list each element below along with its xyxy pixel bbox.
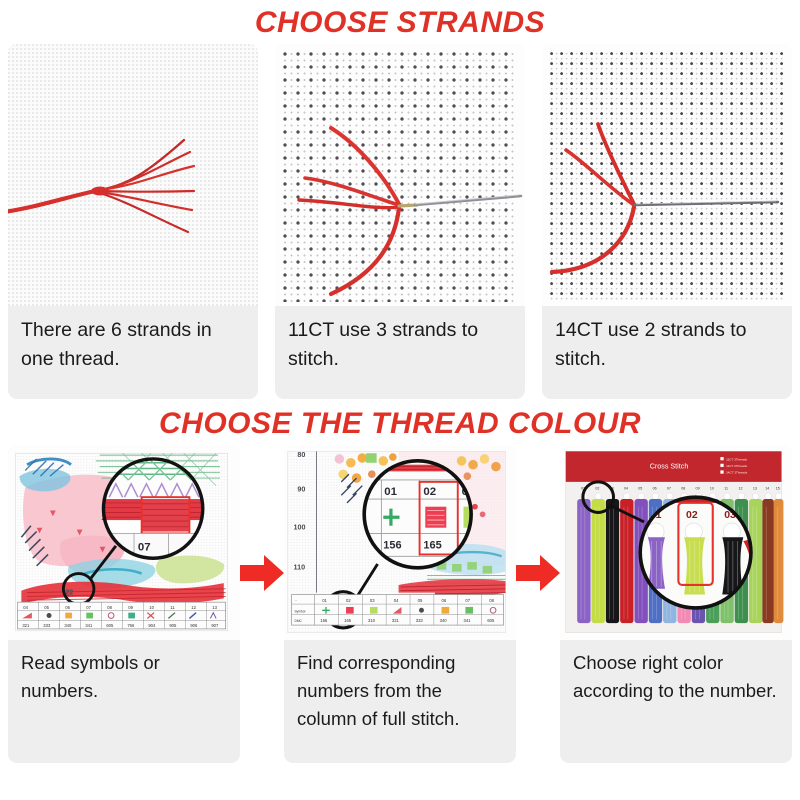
legend-number: 12 xyxy=(191,605,196,610)
photo-printed-pattern-with-magnifier: 24 22 xyxy=(8,445,240,640)
header-legend-entry: 11CT 2Threads xyxy=(726,464,747,468)
legend-code: 321 xyxy=(22,623,30,628)
legend-number: 07 xyxy=(86,605,91,610)
legend-number: 08 xyxy=(489,598,494,603)
legend-code: 905 xyxy=(169,623,177,628)
legend-number: 08 xyxy=(107,605,112,610)
caption-11ct-three-strands: 11CT use 3 strands to stitch. xyxy=(275,306,525,399)
legend-code: 165 xyxy=(344,618,352,623)
svg-text:06: 06 xyxy=(653,487,657,491)
magnified-code: 165 xyxy=(423,540,441,552)
dmc-legend-table: ·· Symbol DMC 01 02 03 04 05 06 07 08 xyxy=(292,595,504,626)
legend-code: 605 xyxy=(487,618,495,623)
legend-number: 10 xyxy=(149,605,154,610)
legend-number: 04 xyxy=(23,605,28,610)
chart-marker-22: 22 xyxy=(65,589,73,597)
magnified-number: 02 xyxy=(423,486,436,498)
card-find-numbers: 80 90 100 110 xyxy=(284,445,516,763)
legend-row-label: DMC xyxy=(295,619,303,623)
photo-chart-with-magnified-legend: 80 90 100 110 xyxy=(284,445,516,640)
right-arrow-icon-2 xyxy=(516,553,560,598)
needle-and-two-strands-illustration xyxy=(542,44,792,306)
photo-six-strands-on-plain-fabric xyxy=(8,44,258,306)
svg-text:11: 11 xyxy=(724,487,728,491)
caption-find-numbers: Find corresponding numbers from the colu… xyxy=(284,640,516,763)
axis-label: 110 xyxy=(294,564,306,572)
header-legend-entry: 14CT 2Threads xyxy=(726,471,748,475)
card-six-strands: There are 6 strands in one thread. xyxy=(8,44,258,399)
thread-colour-card-row: 24 22 xyxy=(0,445,800,763)
svg-text:02: 02 xyxy=(595,487,599,491)
magnified-bobbin-number: 02 xyxy=(686,509,698,521)
magnified-number: 01 xyxy=(384,486,397,498)
legend-number: 11 xyxy=(170,605,175,610)
legend-number: 01 xyxy=(322,598,327,603)
photo-needle-on-11ct-aida xyxy=(275,44,525,306)
svg-text:15: 15 xyxy=(776,487,780,491)
axis-label: 100 xyxy=(294,524,306,532)
legend-number: 03 xyxy=(370,598,375,603)
legend-code: 907 xyxy=(211,623,219,628)
legend-code: 333 xyxy=(43,623,51,628)
pattern-chart-illustration: 24 22 xyxy=(8,445,240,640)
legend-number: 06 xyxy=(442,598,447,603)
svg-text:13: 13 xyxy=(753,487,757,491)
thread-card-illustration: Cross Stitch 11CT 3Threads 11CT 2Threads… xyxy=(560,445,792,640)
caption-14ct-two-strands: 14CT use 2 strands to stitch. xyxy=(542,306,792,399)
card-choose-color: Cross Stitch 11CT 3Threads 11CT 2Threads… xyxy=(560,445,792,763)
legend-number: 09 xyxy=(128,605,133,610)
strands-card-row: There are 6 strands in one thread. 11CT … xyxy=(0,44,800,399)
magnified-code: 156 xyxy=(383,540,401,552)
svg-text:05: 05 xyxy=(638,487,642,491)
legend-number: 04 xyxy=(394,598,399,603)
legend-code: 340 xyxy=(440,618,448,623)
svg-text:14: 14 xyxy=(765,487,769,491)
legend-code: 156 xyxy=(320,618,328,623)
legend-number: 05 xyxy=(418,598,423,603)
brand-title: Cross Stitch xyxy=(650,463,689,471)
svg-text:07: 07 xyxy=(667,487,671,491)
legend-number: 07 xyxy=(465,598,470,603)
svg-text:08: 08 xyxy=(681,487,685,491)
legend-code: 321 xyxy=(392,618,400,623)
axis-label: 80 xyxy=(297,451,305,459)
svg-text:12: 12 xyxy=(739,487,743,491)
legend-number: 05 xyxy=(44,605,49,610)
photo-needle-on-14ct-aida xyxy=(542,44,792,306)
svg-text:10: 10 xyxy=(710,487,714,491)
card-14ct-two-strands: 14CT use 2 strands to stitch. xyxy=(542,44,792,399)
svg-text:09: 09 xyxy=(696,487,700,491)
legend-number: 06 xyxy=(65,605,70,610)
section-title-choose-thread-colour: CHOOSE THE THREAD COLOUR xyxy=(0,399,800,441)
legend-code: 906 xyxy=(190,623,198,628)
right-arrow-icon-1 xyxy=(240,553,284,598)
caption-read-symbols: Read symbols or numbers. xyxy=(8,640,240,763)
svg-text:04: 04 xyxy=(624,487,628,491)
legend-code: 341 xyxy=(463,618,471,623)
legend-code: 341 xyxy=(85,623,93,628)
card-read-symbols: 24 22 xyxy=(8,445,240,763)
legend-code: 333 xyxy=(416,618,424,623)
legend-code: 766 xyxy=(127,623,135,628)
legend-code: 605 xyxy=(106,623,114,628)
legend-row-label: Symbol xyxy=(295,610,306,614)
legend-code: 904 xyxy=(148,623,156,628)
legend-number: 02 xyxy=(346,598,351,603)
card-11ct-three-strands: 11CT use 3 strands to stitch. xyxy=(275,44,525,399)
magnifier-number-07: 07 xyxy=(138,542,151,554)
legend-number: 13 xyxy=(212,605,217,610)
axis-label: 90 xyxy=(297,485,305,493)
section-title-choose-strands: CHOOSE STRANDS xyxy=(0,0,800,40)
chart-grid-illustration: 80 90 100 110 xyxy=(284,445,516,640)
legend-code: 310 xyxy=(368,618,376,623)
needle-and-three-strands-illustration xyxy=(275,44,525,306)
symbol-legend-table: 04 05 06 07 08 09 10 11 12 13 xyxy=(18,602,226,629)
six-strands-illustration xyxy=(8,44,258,306)
legend-row-label: ·· xyxy=(295,599,297,603)
caption-six-strands: There are 6 strands in one thread. xyxy=(8,306,258,399)
caption-choose-color: Choose right color according to the numb… xyxy=(560,640,792,763)
legend-code: 340 xyxy=(64,623,72,628)
header-legend-entry: 11CT 3Threads xyxy=(726,457,747,461)
photo-thread-card-with-magnifier: Cross Stitch 11CT 3Threads 11CT 2Threads… xyxy=(560,445,792,640)
